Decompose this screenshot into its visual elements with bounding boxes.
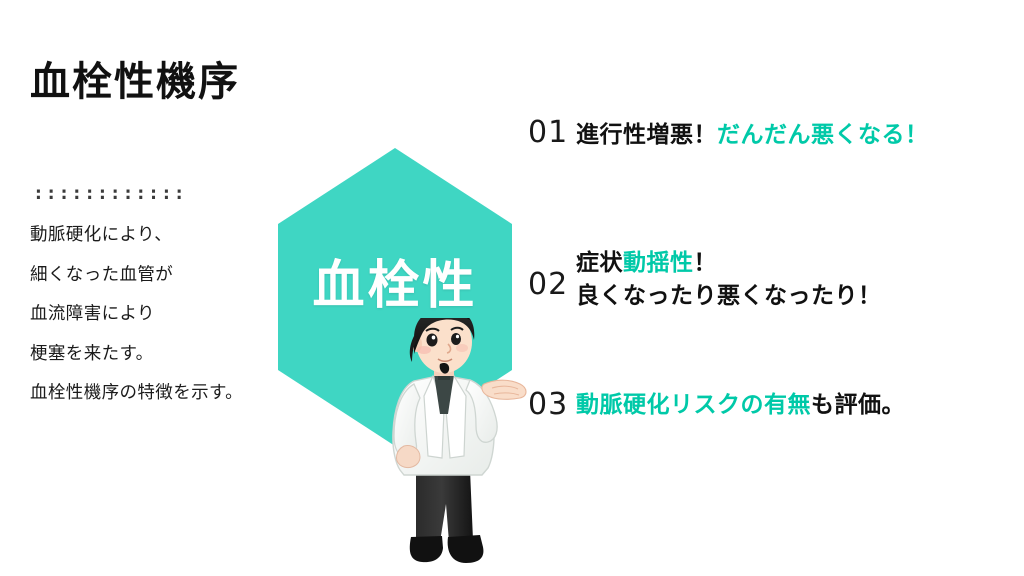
- list-item: 02 症状動揺性！ 良くなったり悪くなったり！: [528, 246, 882, 311]
- point-text: 動脈硬化リスクの有無も評価。: [576, 388, 905, 421]
- point-number: 03: [528, 388, 576, 420]
- point-segment-accent: 動揺性: [623, 249, 694, 275]
- point-text: 進行性増悪！だんだん悪くなる！: [576, 118, 929, 151]
- point-text: 症状動揺性！ 良くなったり悪くなったり！: [576, 246, 882, 311]
- list-item: 01 進行性増悪！だんだん悪くなる！: [528, 118, 929, 151]
- point-line: 良くなったり悪くなったり！: [576, 279, 882, 312]
- doctor-character-illustration: [370, 318, 535, 576]
- point-segment: 進行性増悪！: [576, 121, 717, 147]
- point-number: 02: [528, 246, 576, 300]
- point-segment: 良くなったり悪くなったり！: [576, 282, 882, 308]
- point-segment-accent: 動脈硬化リスクの有無: [576, 391, 811, 417]
- point-line: 動脈硬化リスクの有無も評価。: [576, 388, 905, 421]
- point-segment: 症状: [576, 249, 623, 275]
- point-segment: ！: [694, 249, 718, 275]
- list-item: 03 動脈硬化リスクの有無も評価。: [528, 388, 905, 421]
- slide-canvas: 血栓性機序 :::::::::::: 動脈硬化により、 細くなった血管が 血流障…: [0, 0, 1024, 576]
- point-segment: も評価。: [811, 391, 905, 417]
- page-title: 血栓性機序: [30, 60, 240, 104]
- point-segment-accent: だんだん悪くなる！: [717, 121, 929, 147]
- hexagon-badge-label: 血栓性: [278, 260, 512, 312]
- point-line: 進行性増悪！だんだん悪くなる！: [576, 118, 929, 151]
- point-line: 症状動揺性！: [576, 246, 882, 279]
- point-number: 01: [528, 118, 576, 148]
